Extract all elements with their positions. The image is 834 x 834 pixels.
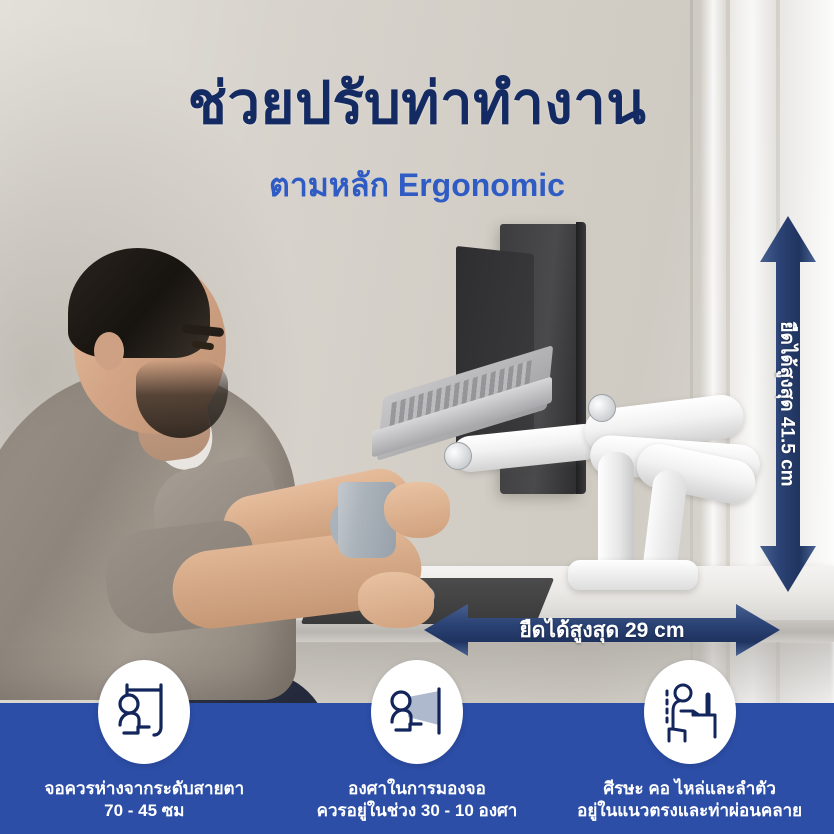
feature-caption: จอควรห่างจากระดับสายตา 70 - 45 ซม xyxy=(45,778,245,823)
person-hair xyxy=(68,248,210,358)
feature-item: องศาในการมองจอ ควรอยู่ในช่วง 30 - 10 องศ… xyxy=(281,660,553,823)
feature-caption-line2: 70 - 45 ซม xyxy=(45,800,245,822)
feature-caption-line2: อยู่ในแนวตรงและท่าผ่อนคลาย xyxy=(577,800,802,822)
feature-caption-line1: ศีรษะ คอ ไหล่และลำตัว xyxy=(603,779,776,798)
page-subtitle: ตามหลัก Ergonomic xyxy=(0,160,834,211)
person-illustration xyxy=(0,250,406,670)
person-ear xyxy=(94,332,124,370)
feature-list: จอควรห่างจากระดับสายตา 70 - 45 ซม องศาใน… xyxy=(0,660,834,834)
upright-posture-icon xyxy=(644,660,736,764)
horizontal-measurement-arrow xyxy=(424,604,780,656)
promo-canvas: ช่วยปรับท่าทำงาน ตามหลัก Ergonomic ยืดได… xyxy=(0,0,834,834)
feature-caption: ศีรษะ คอ ไหล่และลำตัว อยู่ในแนวตรงและท่า… xyxy=(577,778,802,823)
feature-item: จอควรห่างจากระดับสายตา 70 - 45 ซม xyxy=(8,660,280,823)
person-hand-holding-mug xyxy=(384,482,450,538)
eye-distance-icon xyxy=(98,660,190,764)
feature-caption-line1: จอควรห่างจากระดับสายตา xyxy=(45,779,245,798)
feature-item: ศีรษะ คอ ไหล่และลำตัว อยู่ในแนวตรงและท่า… xyxy=(554,660,826,823)
page-title: ช่วยปรับท่าทำงาน xyxy=(0,74,834,135)
feature-caption-line2: ควรอยู่ในช่วง 30 - 10 องศา xyxy=(317,800,518,822)
arm-joint-icon xyxy=(588,394,616,422)
person-hand-on-mouse xyxy=(358,572,434,628)
monitor-arm-desk-clamp xyxy=(568,560,698,590)
viewing-angle-icon xyxy=(371,660,463,764)
feature-caption: องศาในการมองจอ ควรอยู่ในช่วง 30 - 10 องศ… xyxy=(317,778,518,823)
feature-caption-line1: องศาในการมองจอ xyxy=(348,779,486,798)
vertical-measurement-arrow xyxy=(760,216,816,592)
tray-joint-icon xyxy=(444,442,472,470)
